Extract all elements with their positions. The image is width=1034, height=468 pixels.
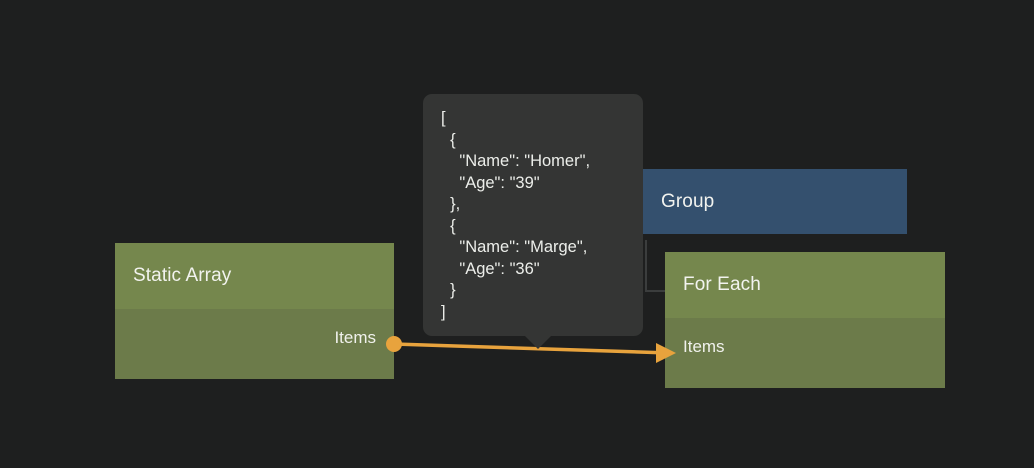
node-static-array-header[interactable]: Static Array [115,243,394,309]
node-for-each-header[interactable]: For Each [665,252,945,318]
port-label-items: Items [683,337,725,357]
node-graph-canvas[interactable]: Group Static Array Items For Each Items … [0,0,1034,468]
node-for-each[interactable]: For Each Items [665,252,945,388]
node-static-array[interactable]: Static Array Items [115,243,394,379]
value-preview-tooltip-tail [524,335,552,349]
port-for-each-items-input[interactable]: Items [683,337,725,357]
port-static-array-items-output[interactable]: Items [334,328,376,348]
node-group[interactable]: Group [643,169,907,234]
port-label-items: Items [334,328,376,348]
value-preview-tooltip: [ { "Name": "Homer", "Age": "39" }, { "N… [423,94,643,336]
node-group-header[interactable]: Group [643,169,907,234]
node-for-each-body: Items [665,318,945,388]
node-group-title: Group [661,191,714,213]
node-static-array-title: Static Array [133,265,231,287]
node-static-array-body: Items [115,309,394,379]
node-for-each-title: For Each [683,274,761,296]
